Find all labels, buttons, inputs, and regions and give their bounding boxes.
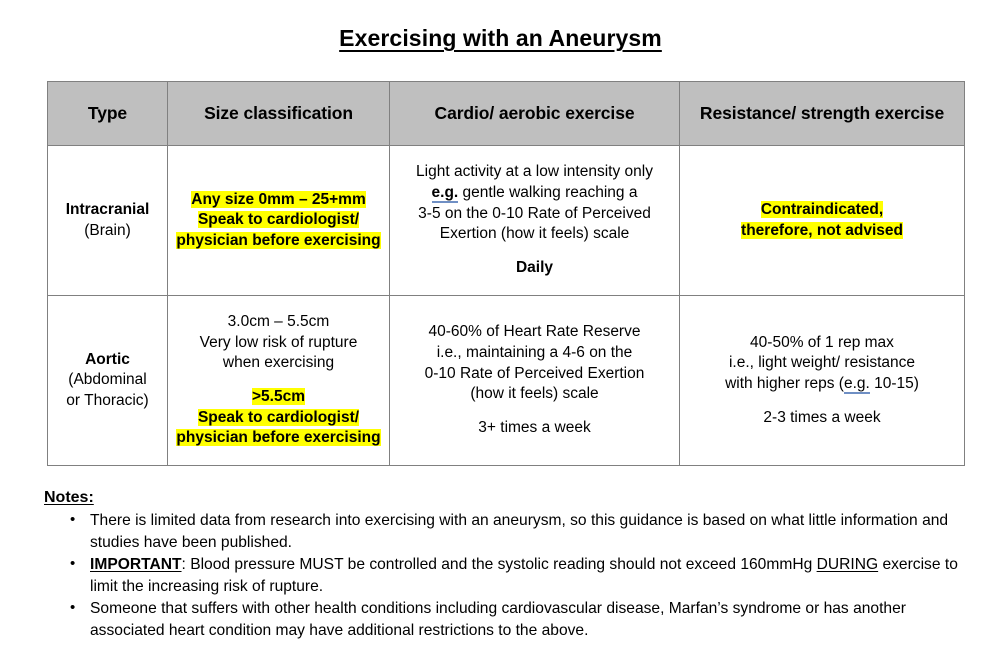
cell-cardio-aortic: 40-60% of Heart Rate Reserve i.e., maint…: [390, 296, 680, 466]
note-lead-important: IMPORTANT: [90, 556, 182, 573]
list-item: IMPORTANT: Blood pressure MUST be contro…: [90, 554, 984, 597]
exercise-guidance-table-wrapper: Type Size classification Cardio/ aerobic…: [47, 81, 964, 466]
cardio-line-1: Light activity at a low intensity only: [396, 162, 673, 183]
cardio-frequency: Daily: [396, 258, 673, 279]
cardio-line-3: 0-10 Rate of Perceived Exertion: [396, 364, 673, 385]
cell-cardio-intracranial: Light activity at a low intensity only e…: [390, 146, 680, 296]
cardio-line-2: i.e., maintaining a 4-6 on the: [396, 343, 673, 364]
spacer: [174, 374, 383, 387]
cell-size-intracranial: Any size 0mm – 25+mm Speak to cardiologi…: [168, 146, 390, 296]
cell-type-aortic: Aortic (Abdominal or Thoracic): [48, 296, 168, 466]
cardio-line-4: (how it feels) scale: [396, 384, 673, 405]
type-sub-intracranial: (Brain): [54, 221, 161, 242]
size-highlight-line-2: Speak to cardiologist/: [174, 408, 383, 429]
table-header: Type Size classification Cardio/ aerobic…: [48, 82, 965, 146]
cardio-frequency: 3+ times a week: [396, 418, 673, 439]
resistance-line-3-post: 10-15): [870, 375, 919, 392]
cardio-line-4: Exertion (how it feels) scale: [396, 224, 673, 245]
resistance-frequency: 2-3 times a week: [686, 408, 958, 429]
size-highlight-line-3: physician before exercising: [174, 428, 383, 449]
resistance-line-2: i.e., light weight/ resistance: [686, 353, 958, 374]
document-page: Exercising with an Aneurysm Type Size cl…: [0, 0, 1001, 669]
column-header-resistance-exercise: Resistance/ strength exercise: [680, 82, 965, 146]
cardio-line-3: 3-5 on the 0-10 Rate of Perceived: [396, 204, 673, 225]
exercise-guidance-table: Type Size classification Cardio/ aerobic…: [47, 81, 965, 466]
column-header-size-classification: Size classification: [168, 82, 390, 146]
notes-list: There is limited data from research into…: [44, 510, 984, 641]
table-row: Aortic (Abdominal or Thoracic) 3.0cm – 5…: [48, 296, 965, 466]
notes-heading: Notes:: [44, 489, 984, 507]
spacer: [396, 405, 673, 418]
list-item: There is limited data from research into…: [90, 510, 984, 553]
table-header-row: Type Size classification Cardio/ aerobic…: [48, 82, 965, 146]
cell-type-intracranial: Intracranial (Brain): [48, 146, 168, 296]
type-name-aortic: Aortic: [54, 350, 161, 371]
type-sub-aortic-line-1: (Abdominal: [54, 370, 161, 391]
note-emphasis-during: DURING: [817, 556, 879, 573]
size-highlight-line-2: Speak to cardiologist/: [174, 210, 383, 231]
resistance-line-1: 40-50% of 1 rep max: [686, 333, 958, 354]
cell-resistance-aortic: 40-50% of 1 rep max i.e., light weight/ …: [680, 296, 965, 466]
type-sub-aortic-line-2: or Thoracic): [54, 391, 161, 412]
size-highlight-line-1: Any size 0mm – 25+mm: [174, 190, 383, 211]
column-header-cardio-exercise: Cardio/ aerobic exercise: [390, 82, 680, 146]
size-plain-line-3: when exercising: [174, 353, 383, 374]
type-name-intracranial: Intracranial: [54, 200, 161, 221]
page-title: Exercising with an Aneurysm: [0, 0, 1001, 51]
table-row: Intracranial (Brain) Any size 0mm – 25+m…: [48, 146, 965, 296]
cell-size-aortic: 3.0cm – 5.5cm Very low risk of rupture w…: [168, 296, 390, 466]
size-plain-line-1: 3.0cm – 5.5cm: [174, 312, 383, 333]
resistance-highlight-line-1: Contraindicated,: [686, 200, 958, 221]
spacer: [396, 245, 673, 258]
cell-resistance-intracranial: Contraindicated, therefore, not advised: [680, 146, 965, 296]
notes-section: Notes: There is limited data from resear…: [44, 489, 984, 642]
cardio-line-2-rest: gentle walking reaching a: [458, 184, 637, 201]
eg-abbreviation: e.g.: [432, 184, 459, 203]
note-text-before: : Blood pressure MUST be controlled and …: [182, 556, 817, 573]
list-item: Someone that suffers with other health c…: [90, 598, 984, 641]
column-header-type: Type: [48, 82, 168, 146]
size-plain-line-2: Very low risk of rupture: [174, 333, 383, 354]
cardio-line-1: 40-60% of Heart Rate Reserve: [396, 322, 673, 343]
size-highlight-line-1: >5.5cm: [174, 387, 383, 408]
table-body: Intracranial (Brain) Any size 0mm – 25+m…: [48, 146, 965, 466]
eg-abbreviation: e.g.: [844, 375, 870, 394]
spacer: [686, 395, 958, 408]
resistance-line-3: with higher reps (e.g. 10-15): [686, 374, 958, 395]
resistance-highlight-line-2: therefore, not advised: [686, 221, 958, 242]
size-highlight-line-3: physician before exercising: [174, 231, 383, 252]
resistance-line-3-pre: with higher reps (: [725, 375, 844, 392]
cardio-line-2: e.g. gentle walking reaching a: [396, 183, 673, 204]
